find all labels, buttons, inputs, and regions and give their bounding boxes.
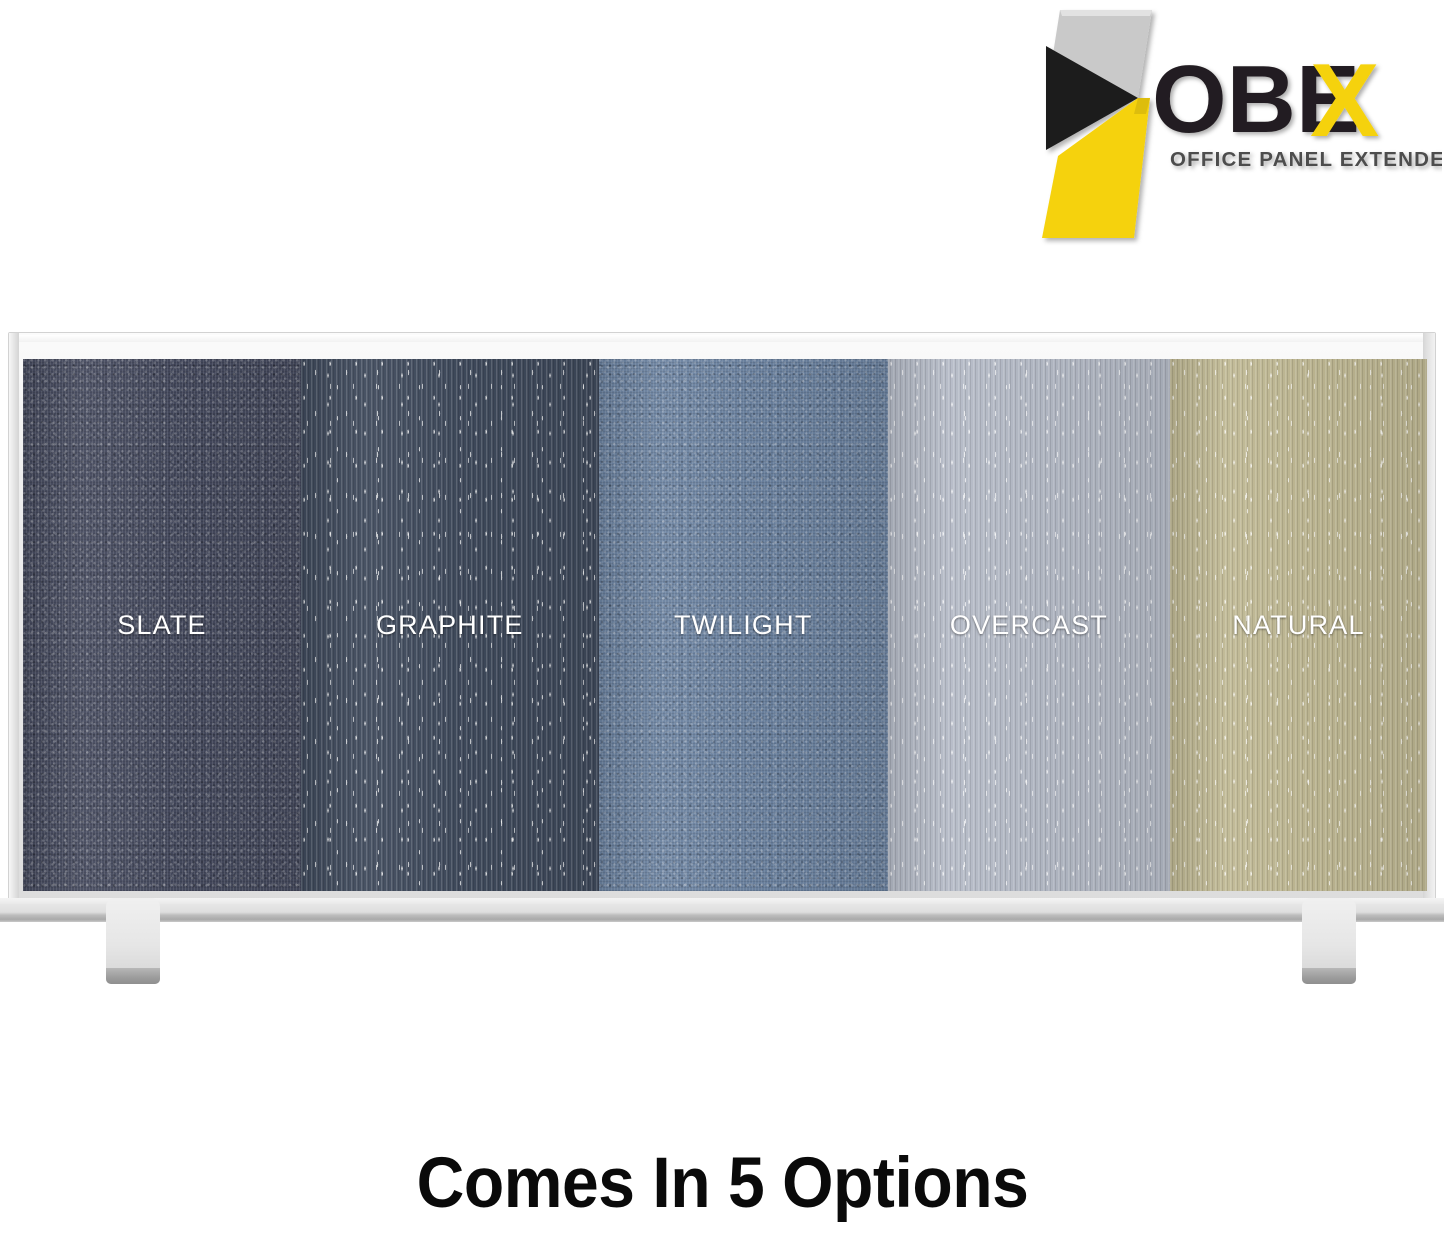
swatch-label-slate: SLATE — [117, 610, 207, 641]
obex-logo: OBE X OFFICE PANEL EXTENDERS — [1034, 6, 1434, 246]
frame-top-bevel — [11, 335, 1435, 342]
panel-foot-left-base — [106, 968, 160, 984]
swatch-graphite[interactable]: GRAPHITE — [301, 359, 599, 891]
swatch-natural[interactable]: NATURAL — [1170, 359, 1427, 891]
swatch-overcast[interactable]: OVERCAST — [888, 359, 1170, 891]
panel-extender-product: SLATE GRAPHITE TWILIGHT — [8, 332, 1436, 992]
swatch-slate[interactable]: SLATE — [23, 359, 301, 891]
swatch-label-overcast: OVERCAST — [950, 610, 1108, 641]
obex-chevron-logo-mark-icon — [1034, 6, 1164, 246]
swatch-label-natural: NATURAL — [1232, 610, 1364, 641]
panel-foot-left — [106, 898, 160, 984]
fabric-swatch-strip: SLATE GRAPHITE TWILIGHT — [23, 359, 1427, 891]
caption-text: Comes In 5 Options — [51, 1143, 1395, 1224]
swatch-label-graphite: GRAPHITE — [376, 610, 524, 641]
panel-frame: SLATE GRAPHITE TWILIGHT — [8, 332, 1436, 910]
wordmark-tagline: OFFICE PANEL EXTENDERS — [1170, 148, 1442, 171]
swatch-label-twilight: TWILIGHT — [674, 610, 813, 641]
frame-left-rail — [9, 333, 19, 911]
obex-wordmark: OBE X OFFICE PANEL EXTENDERS — [1152, 58, 1442, 198]
product-image-canvas: OBE X OFFICE PANEL EXTENDERS SLATE — [0, 0, 1445, 1236]
panel-foot-right — [1302, 898, 1356, 984]
panel-bottom-rail — [0, 904, 1444, 922]
swatch-twilight[interactable]: TWILIGHT — [599, 359, 888, 891]
panel-foot-right-base — [1302, 968, 1356, 984]
wordmark-x-accent: X — [1310, 58, 1379, 159]
